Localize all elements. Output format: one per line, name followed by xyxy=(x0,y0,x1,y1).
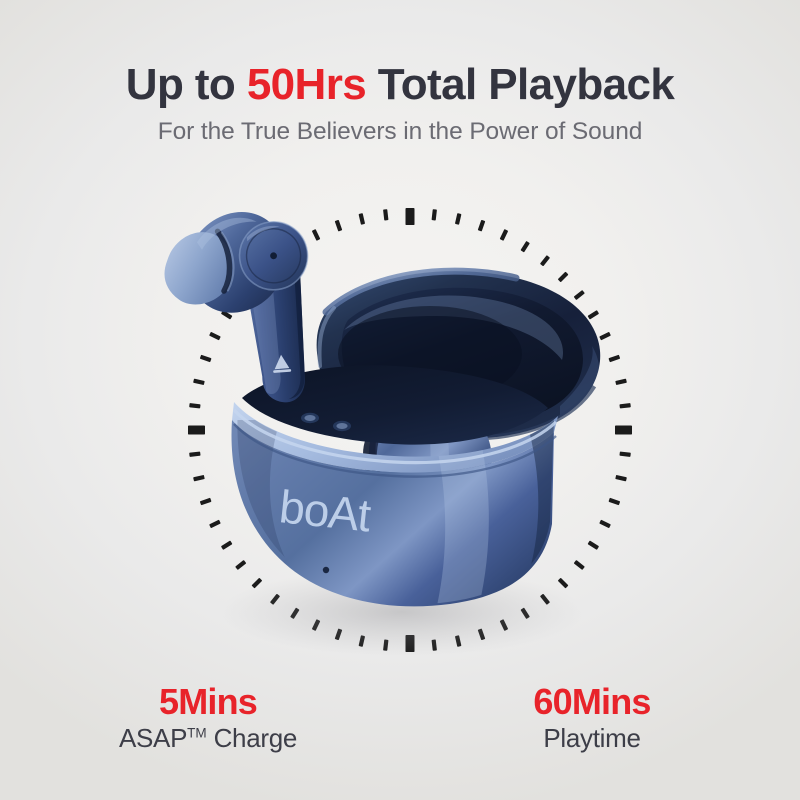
product-illustration: boAt xyxy=(130,170,690,670)
trademark-symbol: TM xyxy=(187,725,207,740)
headline-block: Up to 50Hrs Total Playback For the True … xyxy=(0,62,800,146)
headline-accent: 50Hrs xyxy=(247,60,366,109)
page-subtitle: For the True Believers in the Power of S… xyxy=(0,118,800,146)
stat-label: ASAPTM Charge xyxy=(58,724,358,754)
stats-row: 5Mins ASAPTM Charge 60Mins Playtime xyxy=(0,682,800,754)
product-banner: Up to 50Hrs Total Playback For the True … xyxy=(0,0,800,800)
stat-asap-charge: 5Mins ASAPTM Charge xyxy=(58,682,358,754)
stat-value: 5Mins xyxy=(58,682,358,722)
brand-logo: boAt xyxy=(277,480,374,541)
left-earbud-floating xyxy=(157,203,328,417)
led-indicator-dot xyxy=(323,567,329,573)
headline-part2: Total Playback xyxy=(366,60,674,109)
stat-label-tail: Charge xyxy=(207,723,297,753)
stat-value: 60Mins xyxy=(442,682,742,722)
stat-label: Playtime xyxy=(442,724,742,754)
page-title: Up to 50Hrs Total Playback xyxy=(0,62,800,109)
stat-playtime: 60Mins Playtime xyxy=(442,682,742,754)
stat-label-main: Playtime xyxy=(543,723,640,753)
headline-part1: Up to xyxy=(126,60,247,109)
stat-label-main: ASAP xyxy=(119,723,187,753)
